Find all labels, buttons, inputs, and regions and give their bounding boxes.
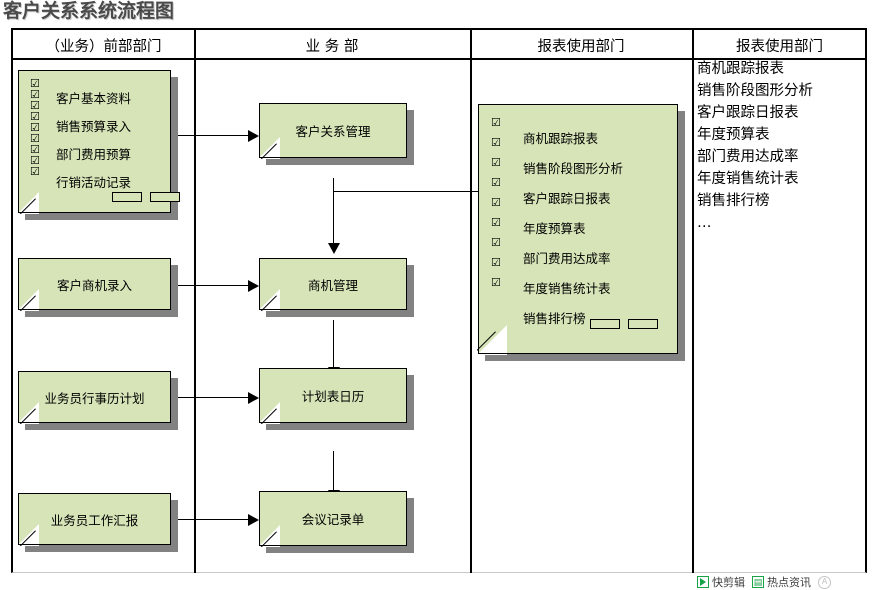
checkbox-icon: ☑ <box>491 257 501 268</box>
list-item: 年度销售统计表 <box>697 168 813 190</box>
checkbox-icon: ☑ <box>30 166 40 177</box>
folded-corner-edge <box>258 289 280 311</box>
document-front-checklist[interactable]: ☑ ☑ ☑ ☑ ☑ ☑ ☑ ☑ ☑ 客户基本资料 销售预算录入 部门费用预算 行… <box>18 70 171 213</box>
list-item: 年度销售统计表 <box>523 278 623 297</box>
list-item: 销售阶段图形分析 <box>523 158 623 177</box>
document-salesperson-work-report[interactable]: 业务员工作汇报 <box>18 493 171 545</box>
checkbox-column: ☑ ☑ ☑ ☑ ☑ ☑ ☑ ☑ ☑ <box>491 117 501 288</box>
folded-corner-edge <box>17 192 39 214</box>
column-header-report-department-2: 报表使用部门 <box>692 30 867 60</box>
folded-corner-edge <box>258 402 280 424</box>
toolbar-item-quick-clip[interactable]: 快剪辑 <box>697 574 745 590</box>
list-item: 商机跟踪报表 <box>523 128 623 147</box>
circle-a-icon[interactable]: A <box>818 576 831 589</box>
list-item: 客户基本资料 <box>56 88 131 107</box>
checkbox-column: ☑ ☑ ☑ ☑ ☑ ☑ ☑ ☑ ☑ <box>30 78 40 177</box>
report-name-list: 商机跟踪报表 销售阶段图形分析 客户跟踪日报表 年度预算表 部门费用达成率 年度… <box>697 58 813 234</box>
folded-corner-baseline <box>259 157 282 158</box>
checkbox-icon: ☑ <box>491 217 501 228</box>
checkbox-icon: ☑ <box>491 277 501 288</box>
document-buttons[interactable] <box>112 192 180 202</box>
list-item: 客户跟踪日报表 <box>523 188 623 207</box>
list-item: … <box>697 212 813 234</box>
folded-corner-baseline <box>259 545 282 546</box>
connector-line-6 <box>333 320 334 368</box>
news-icon[interactable]: ▤ <box>752 576 764 588</box>
document-label: 业务员工作汇报 <box>18 493 171 545</box>
toolbar-item-hot-news[interactable]: ▤ 热点资讯 <box>752 574 811 590</box>
folded-corner-baseline <box>478 353 509 354</box>
column-header-front-department: （业务）前部部门 <box>13 30 194 60</box>
folded-corner-edge <box>17 402 39 424</box>
connector-line-7 <box>333 451 334 491</box>
checkbox-icon: ☑ <box>491 117 501 128</box>
column-divider-1 <box>194 30 196 573</box>
list-item: 年度预算表 <box>697 124 813 146</box>
folded-corner-edge <box>477 325 507 355</box>
toolbar-item-label: 热点资讯 <box>767 574 811 590</box>
document-label: 会议记录单 <box>259 491 407 546</box>
document-schedule-calendar[interactable]: 计划表日历 <box>259 368 407 423</box>
checkbox-icon: ☑ <box>491 237 501 248</box>
document-button[interactable] <box>590 319 620 329</box>
folded-corner-baseline <box>18 544 41 545</box>
list-item: 年度预算表 <box>523 218 623 237</box>
toolbar-item-label: 快剪辑 <box>712 574 745 590</box>
document-label: 客户商机录入 <box>18 258 171 310</box>
checkbox-icon: ☑ <box>491 197 501 208</box>
checklist-items: 客户基本资料 销售预算录入 部门费用预算 行销活动记录 <box>56 88 131 191</box>
play-icon[interactable] <box>697 576 709 588</box>
checkbox-icon: ☑ <box>491 157 501 168</box>
document-button[interactable] <box>112 192 142 202</box>
folded-corner-baseline <box>18 422 41 423</box>
bottom-toolbar[interactable]: 快剪辑 ▤ 热点资讯 A <box>697 574 831 590</box>
document-label: 计划表日历 <box>259 368 407 423</box>
connector-line-2 <box>171 285 250 286</box>
connector-line-4 <box>171 519 250 520</box>
document-label: 业务员行事历计划 <box>18 371 171 423</box>
list-item: 客户跟踪日报表 <box>697 102 813 124</box>
document-meeting-minutes[interactable]: 会议记录单 <box>259 491 407 546</box>
list-item: 商机跟踪报表 <box>697 58 813 80</box>
document-button[interactable] <box>150 192 180 202</box>
document-salesperson-calendar-plan[interactable]: 业务员行事历计划 <box>18 371 171 423</box>
folded-corner-baseline <box>259 309 282 310</box>
list-item: 部门费用达成率 <box>523 248 623 267</box>
document-button[interactable] <box>628 319 658 329</box>
folded-corner-baseline <box>259 422 282 423</box>
list-item: 行销活动记录 <box>56 172 131 191</box>
page-title: 客户关系系统流程图 <box>3 0 174 24</box>
document-label: 客户关系管理 <box>259 103 407 158</box>
column-divider-2 <box>470 30 472 573</box>
folded-corner-edge <box>17 289 39 311</box>
document-opportunity-management[interactable]: 商机管理 <box>259 258 407 310</box>
folded-corner-edge <box>258 137 280 159</box>
list-item: 销售预算录入 <box>56 116 131 135</box>
list-item: 部门费用达成率 <box>697 146 813 168</box>
checkbox-icon: ☑ <box>491 177 501 188</box>
checklist-items: 商机跟踪报表 销售阶段图形分析 客户跟踪日报表 年度预算表 部门费用达成率 年度… <box>523 128 623 327</box>
folded-corner-edge <box>17 524 39 546</box>
folded-corner-edge <box>258 525 280 547</box>
column-header-report-department-1: 报表使用部门 <box>470 30 692 60</box>
document-label: 商机管理 <box>259 258 407 310</box>
connector-line-3 <box>171 397 250 398</box>
document-crm[interactable]: 客户关系管理 <box>259 103 407 158</box>
list-item: 部门费用预算 <box>56 144 131 163</box>
folded-corner-baseline <box>18 212 41 213</box>
column-header-business-department: 业 务 部 <box>194 30 470 60</box>
list-item: 销售阶段图形分析 <box>697 80 813 102</box>
document-buttons[interactable] <box>590 319 658 329</box>
column-divider-3 <box>692 30 694 573</box>
document-report-checklist[interactable]: ☑ ☑ ☑ ☑ ☑ ☑ ☑ ☑ ☑ 商机跟踪报表 销售阶段图形分析 客户跟踪日报… <box>478 104 678 354</box>
document-customer-opportunity-entry[interactable]: 客户商机录入 <box>18 258 171 310</box>
connector-line-1 <box>171 135 250 136</box>
connector-arrow-5 <box>328 243 340 254</box>
folded-corner-baseline <box>18 309 41 310</box>
connector-line-5 <box>333 178 334 244</box>
table-header-row: （业务）前部部门 业 务 部 报表使用部门 报表使用部门 <box>13 30 865 60</box>
list-item: 销售排行榜 <box>697 190 813 212</box>
checkbox-icon: ☑ <box>491 137 501 148</box>
